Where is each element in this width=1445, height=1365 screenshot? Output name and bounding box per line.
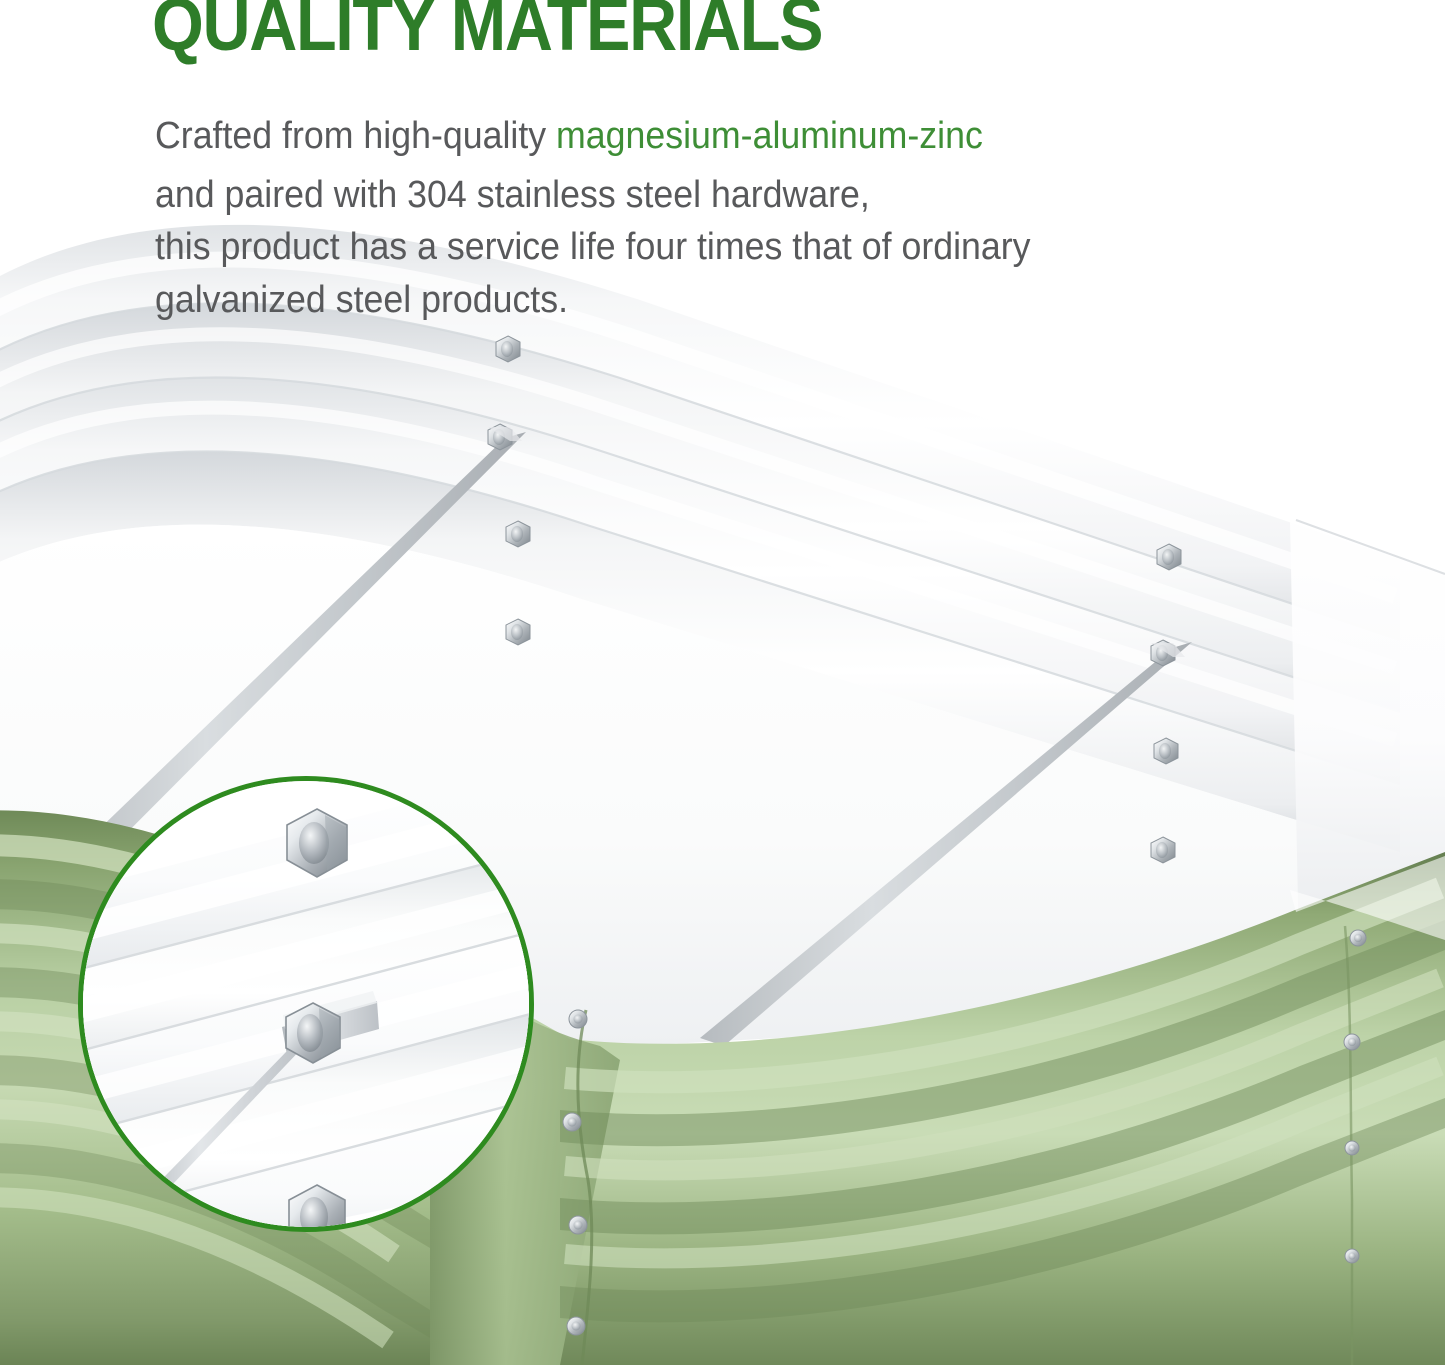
seam-bolt [1350,930,1366,946]
seam-bolt [1345,1141,1359,1155]
seam-bolt [1344,1034,1360,1050]
bolt [1154,738,1178,764]
seam-bolt [569,1010,587,1028]
seam-bolt [563,1113,581,1131]
product-infographic-page: QUALITY MATERIALS Crafted from high-qual… [0,0,1445,1365]
bolt [496,336,520,362]
seam-bolt [569,1216,587,1234]
bolt [1157,544,1181,570]
bolt [1151,837,1175,863]
detail-zoom-callout [78,776,534,1232]
seam-bolt [567,1317,585,1335]
seam-bolt [1345,1249,1359,1263]
bolt [506,521,530,547]
zoom-detail-illustration [78,776,533,1231]
bolt [506,619,530,645]
